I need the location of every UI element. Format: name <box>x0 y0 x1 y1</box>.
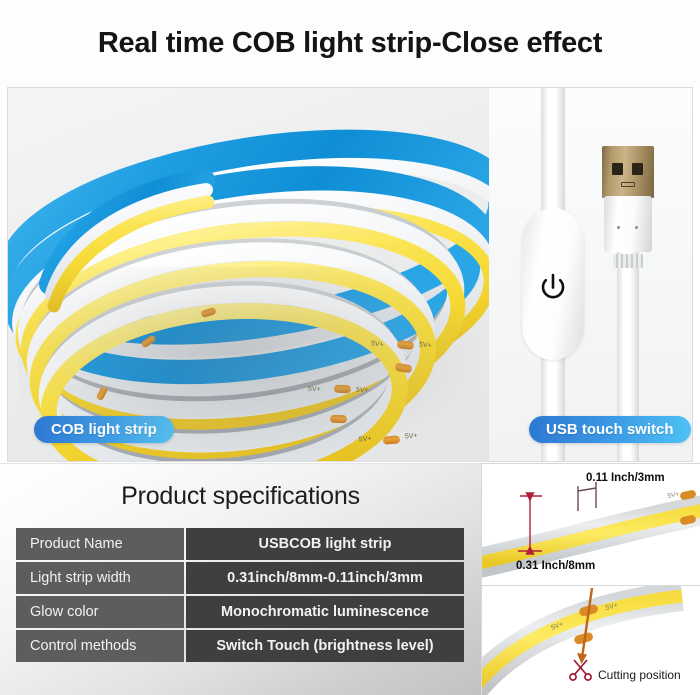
spec-value: USBCOB light strip <box>186 528 464 560</box>
specifications-table: Product Name USBCOB light strip Light st… <box>14 526 466 664</box>
housing-dot <box>635 226 638 229</box>
dimension-detail-panel: 5V+ 0.11 Inch/3mm 0.31 Inch/8mm <box>481 463 700 585</box>
spec-value: 0.31inch/8mm-0.11inch/3mm <box>186 562 464 594</box>
usb-plastic-housing <box>604 196 652 252</box>
solder-pad <box>330 415 347 424</box>
spec-key: Glow color <box>16 596 184 628</box>
cob-strip-photo: 5V+ 5V+ 5V+ 5V+ 5V+ 5V+ 5V+ 5V+ COB ligh… <box>8 88 489 461</box>
usb-contact-slot <box>612 163 623 175</box>
page-title-bar: Real time COB light strip-Close effect <box>0 0 700 87</box>
coil-illustration <box>8 88 489 461</box>
table-row: Light strip width 0.31inch/8mm-0.11inch/… <box>16 562 464 594</box>
usb-tongue <box>621 182 635 187</box>
solder-pad <box>334 385 351 394</box>
spec-value: Switch Touch (brightness level) <box>186 630 464 662</box>
voltage-marking: 5V+ <box>419 341 432 349</box>
usb-touch-switch-badge: USB touch switch <box>529 416 691 443</box>
cable-lower <box>541 354 565 461</box>
thickness-label: 0.11 Inch/3mm <box>586 472 665 484</box>
spec-key: Control methods <box>16 630 184 662</box>
product-infographic: Real time COB light strip-Close effect <box>0 0 700 695</box>
touch-switch-module[interactable] <box>522 208 584 360</box>
housing-dot <box>617 226 620 229</box>
usb-contact-slot <box>632 163 643 175</box>
usb-touch-switch-photo: USB touch switch <box>489 88 693 461</box>
specifications-heading: Product specifications <box>0 482 481 511</box>
table-row: Product Name USBCOB light strip <box>16 528 464 560</box>
detail-panels: 5V+ 0.11 Inch/3mm 0.31 Inch/8mm <box>481 463 700 695</box>
power-icon <box>538 272 568 302</box>
usb-connector-icon <box>602 146 654 238</box>
cutting-position-label: Cutting position <box>598 668 681 682</box>
cob-light-strip-badge: COB light strip <box>34 416 174 443</box>
hero-photo-panel: 5V+ 5V+ 5V+ 5V+ 5V+ 5V+ 5V+ 5V+ COB ligh… <box>7 87 693 462</box>
strain-relief <box>613 254 643 268</box>
voltage-marking: 5V+ <box>359 435 372 443</box>
usb-metal-shell <box>602 146 654 198</box>
product-specifications-panel: Product specifications Product Name USBC… <box>0 463 481 695</box>
cable-upper <box>541 88 565 214</box>
thickness-dimension-arrow <box>578 482 596 511</box>
voltage-marking: 5V+ <box>405 432 418 440</box>
cutting-position-panel: 5V+ 5V+ Cutting position <box>481 585 700 695</box>
table-row: Control methods Switch Touch (brightness… <box>16 630 464 662</box>
voltage-marking: 5V+ <box>371 340 384 348</box>
page-title: Real time COB light strip-Close effect <box>98 27 602 60</box>
voltage-marking: 5V+ <box>356 387 369 395</box>
scissors-icon <box>570 660 591 680</box>
table-row: Glow color Monochromatic luminescence <box>16 596 464 628</box>
width-label: 0.31 Inch/8mm <box>516 560 595 572</box>
spec-key: Product Name <box>16 528 184 560</box>
spec-key: Light strip width <box>16 562 184 594</box>
svg-text:5V+: 5V+ <box>667 491 680 500</box>
voltage-marking: 5V+ <box>308 386 321 394</box>
spec-value: Monochromatic luminescence <box>186 596 464 628</box>
solder-pad <box>397 340 415 350</box>
